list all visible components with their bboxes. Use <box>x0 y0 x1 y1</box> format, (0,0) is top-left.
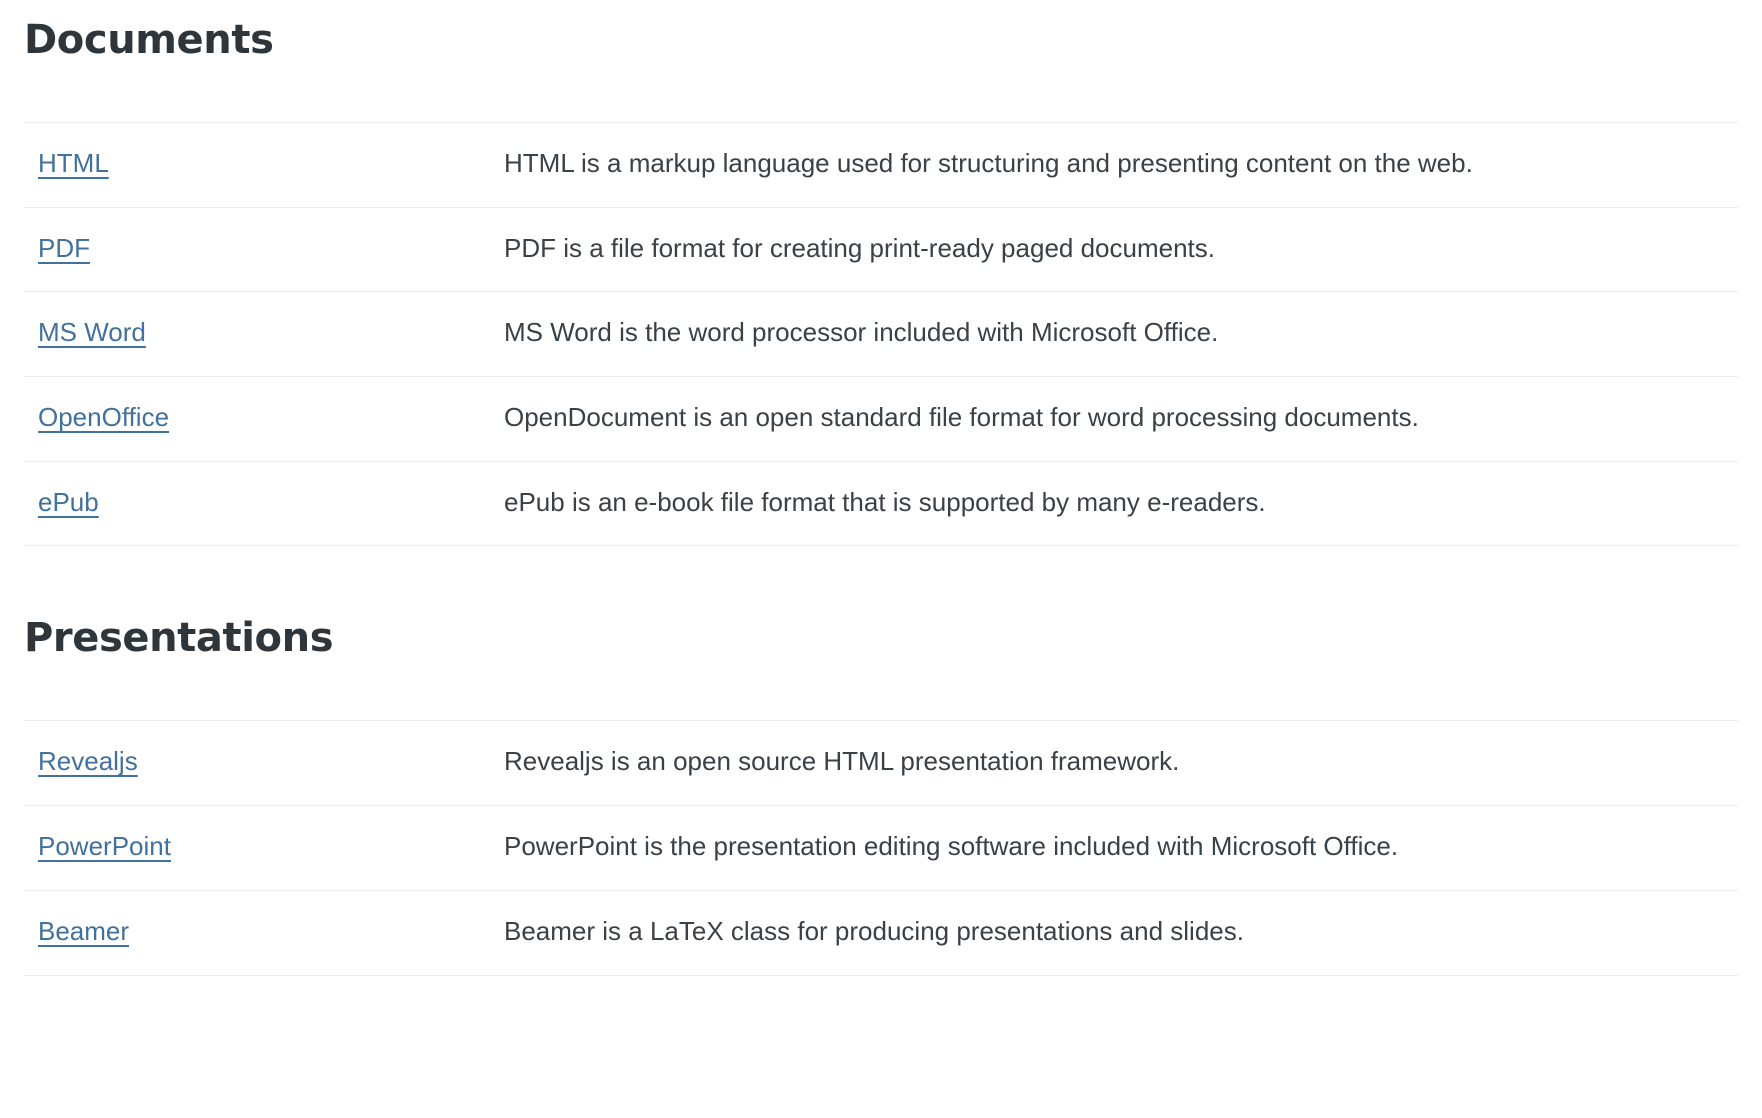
format-link-openoffice[interactable]: OpenOffice <box>38 402 169 432</box>
presentations-table-body: Revealjs Revealjs is an open source HTML… <box>24 721 1738 975</box>
page-title-presentations: Presentations <box>24 598 1738 660</box>
table-row: PDF PDF is a file format for creating pr… <box>24 207 1738 292</box>
format-description: Beamer is a LaTeX class for producing pr… <box>504 913 1504 951</box>
row-description-cell: Beamer is a LaTeX class for producing pr… <box>504 890 1738 975</box>
format-link-pdf[interactable]: PDF <box>38 233 90 263</box>
row-name-cell: PDF <box>24 207 504 292</box>
row-name-cell: ePub <box>24 461 504 546</box>
row-name-cell: Revealjs <box>24 721 504 806</box>
table-row: MS Word MS Word is the word processor in… <box>24 292 1738 377</box>
format-link-ms-word[interactable]: MS Word <box>38 317 146 347</box>
row-description-cell: OpenDocument is an open standard file fo… <box>504 377 1738 462</box>
format-link-revealjs[interactable]: Revealjs <box>38 746 138 776</box>
format-description: ePub is an e-book file format that is su… <box>504 484 1504 522</box>
table-row: PowerPoint PowerPoint is the presentatio… <box>24 806 1738 891</box>
row-description-cell: PowerPoint is the presentation editing s… <box>504 806 1738 891</box>
documents-table-body: HTML HTML is a markup language used for … <box>24 123 1738 546</box>
table-row: ePub ePub is an e-book file format that … <box>24 461 1738 546</box>
row-description-cell: Revealjs is an open source HTML presenta… <box>504 721 1738 806</box>
format-description: Revealjs is an open source HTML presenta… <box>504 743 1504 781</box>
table-row: OpenOffice OpenDocument is an open stand… <box>24 377 1738 462</box>
format-link-beamer[interactable]: Beamer <box>38 916 129 946</box>
table-row: Beamer Beamer is a LaTeX class for produ… <box>24 890 1738 975</box>
table-row: Revealjs Revealjs is an open source HTML… <box>24 721 1738 806</box>
section-presentations: Presentations Revealjs Revealjs is an op… <box>0 598 1762 975</box>
format-description: PowerPoint is the presentation editing s… <box>504 828 1504 866</box>
row-description-cell: MS Word is the word processor included w… <box>504 292 1738 377</box>
format-description: PDF is a file format for creating print-… <box>504 230 1504 268</box>
format-description: MS Word is the word processor included w… <box>504 314 1504 352</box>
page-title-documents: Documents <box>24 0 1738 62</box>
row-name-cell: OpenOffice <box>24 377 504 462</box>
documents-format-table: HTML HTML is a markup language used for … <box>24 122 1738 546</box>
row-description-cell: HTML is a markup language used for struc… <box>504 123 1738 208</box>
presentations-format-table: Revealjs Revealjs is an open source HTML… <box>24 720 1738 975</box>
format-link-epub[interactable]: ePub <box>38 487 99 517</box>
format-description: HTML is a markup language used for struc… <box>504 145 1504 183</box>
row-name-cell: Beamer <box>24 890 504 975</box>
format-link-powerpoint[interactable]: PowerPoint <box>38 831 171 861</box>
format-description: OpenDocument is an open standard file fo… <box>504 399 1504 437</box>
row-name-cell: MS Word <box>24 292 504 377</box>
format-link-html[interactable]: HTML <box>38 148 109 178</box>
heading-spacer <box>24 660 1738 720</box>
row-name-cell: HTML <box>24 123 504 208</box>
row-name-cell: PowerPoint <box>24 806 504 891</box>
row-description-cell: PDF is a file format for creating print-… <box>504 207 1738 292</box>
heading-spacer <box>24 62 1738 122</box>
section-gap <box>0 546 1762 598</box>
documentation-page: Documents HTML HTML is a markup language… <box>0 0 1762 1016</box>
bottom-space <box>0 976 1762 1016</box>
table-row: HTML HTML is a markup language used for … <box>24 123 1738 208</box>
row-description-cell: ePub is an e-book file format that is su… <box>504 461 1738 546</box>
section-documents: Documents HTML HTML is a markup language… <box>0 0 1762 546</box>
